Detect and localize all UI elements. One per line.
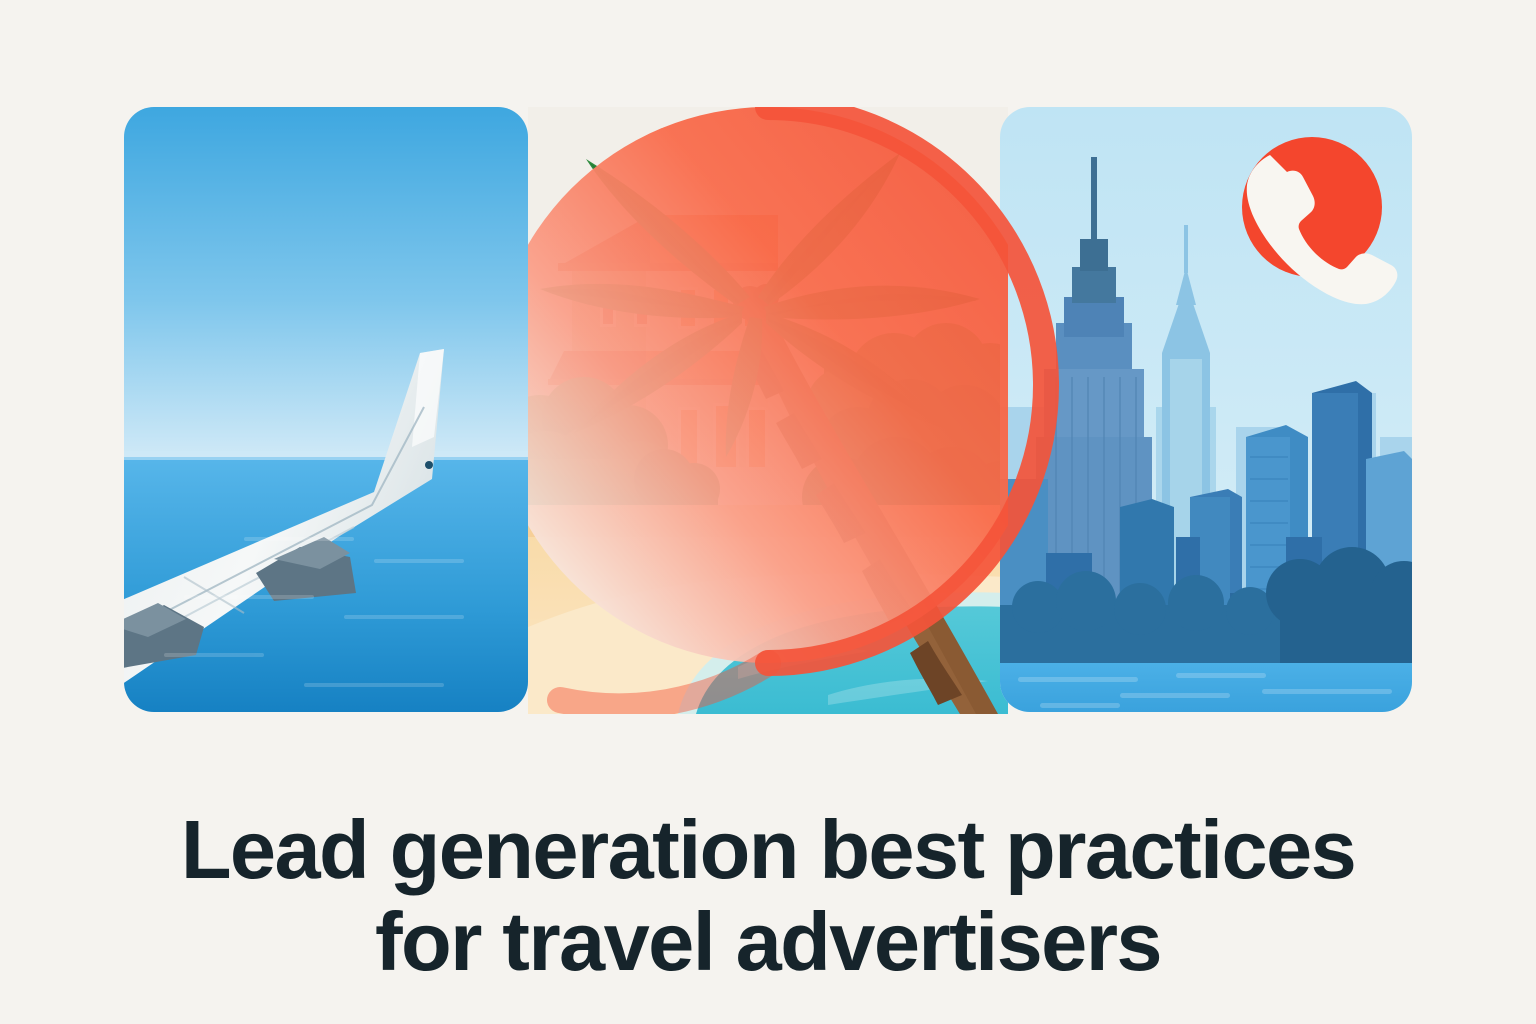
poster-canvas: Lead generation best practices for trave…: [0, 0, 1536, 1024]
airplane-wing-illustration: [124, 107, 528, 712]
city-skyline-illustration: [1000, 107, 1412, 712]
title-line-2: for travel advertisers: [0, 896, 1536, 988]
panel-airplane-wing: [124, 107, 528, 712]
title-line-1: Lead generation best practices: [0, 804, 1536, 896]
page-title: Lead generation best practices for trave…: [0, 804, 1536, 988]
beach-villa-illustration: [528, 107, 1008, 714]
villa-windows-lower: [678, 403, 768, 467]
panel-city-skyline: [1000, 107, 1412, 712]
panel-beach-villa: [528, 107, 1008, 714]
